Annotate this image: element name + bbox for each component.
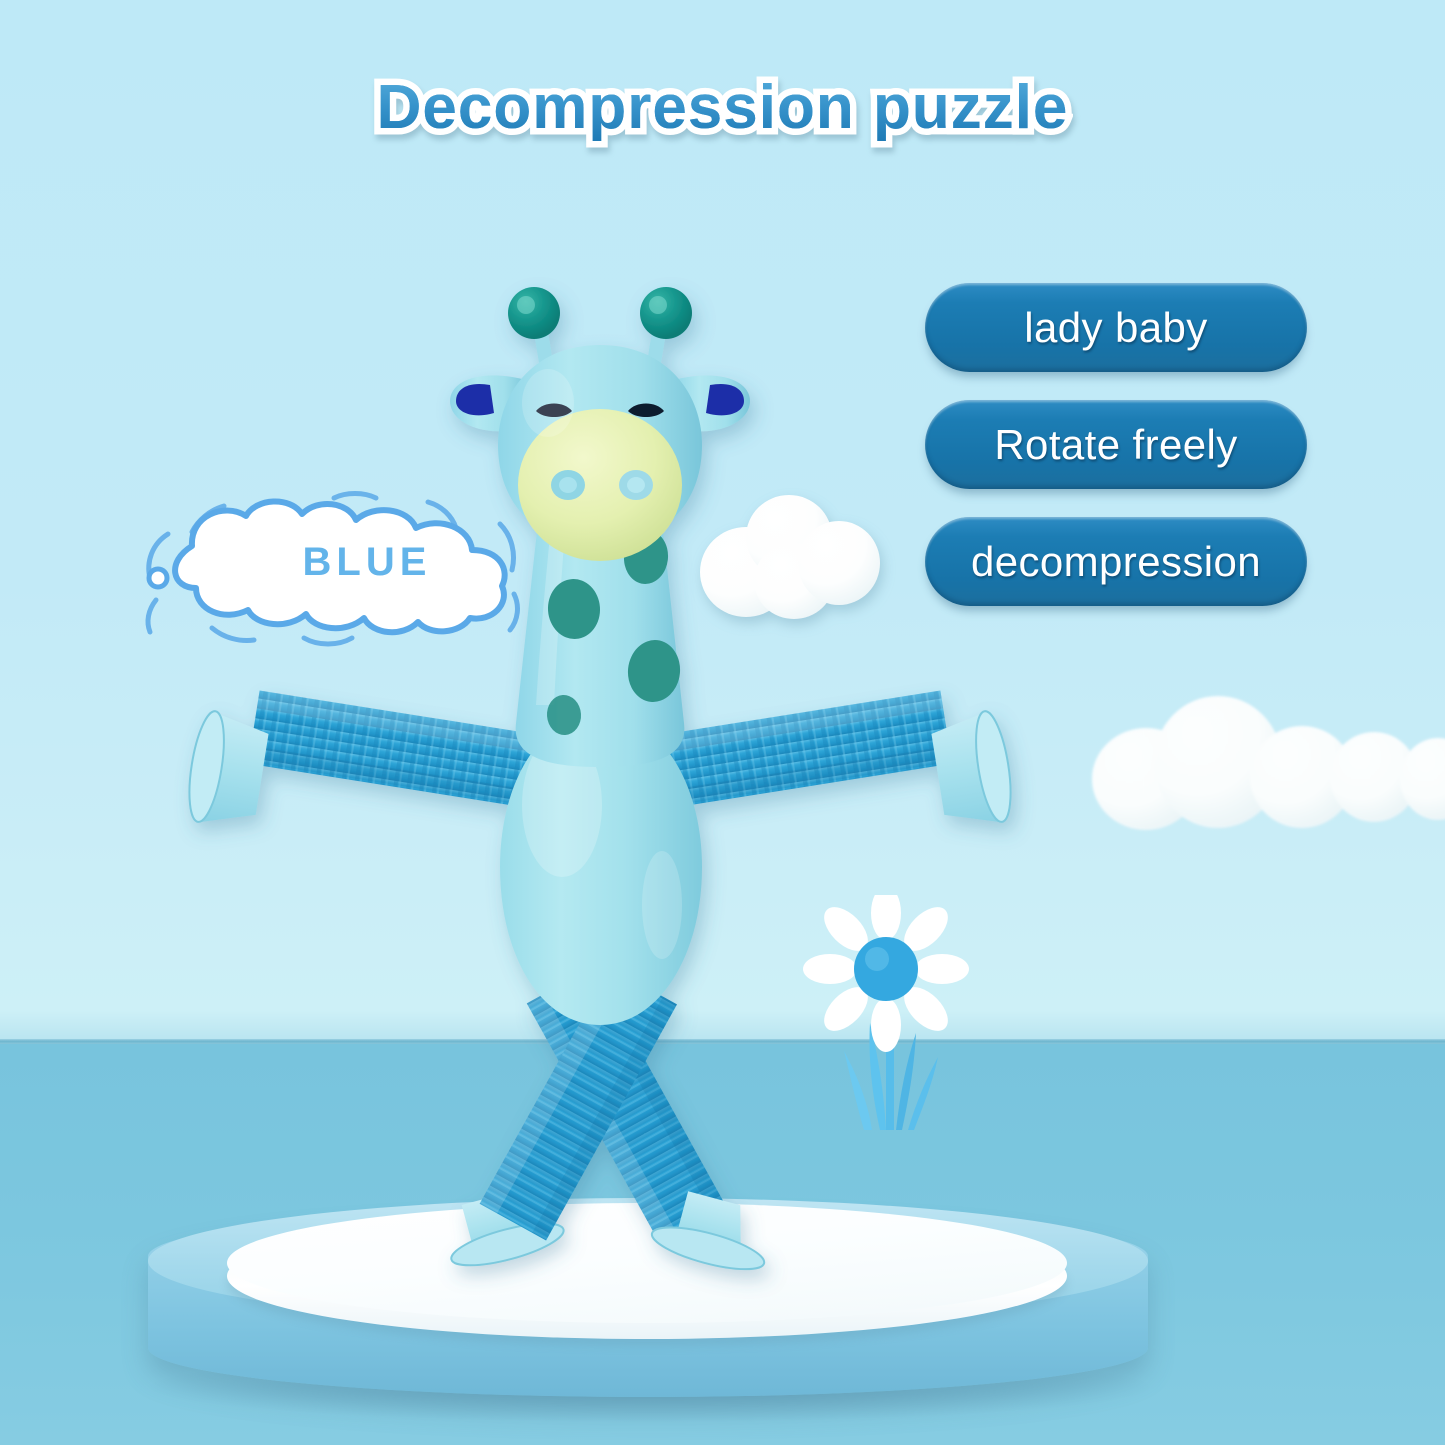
product-ad-canvas: Decompression puzzle Decompression puzzl… [0, 0, 1445, 1445]
pop-tube-giraffe-toy[interactable] [150, 285, 1050, 1270]
page-title: Decompression puzzle [0, 72, 1445, 143]
arm-left [183, 691, 556, 831]
cotton-cloud-row-right-icon [1092, 690, 1445, 830]
toy-head [450, 287, 750, 561]
arm-right [644, 691, 1017, 831]
feature-badge-label: lady baby [1024, 304, 1207, 352]
